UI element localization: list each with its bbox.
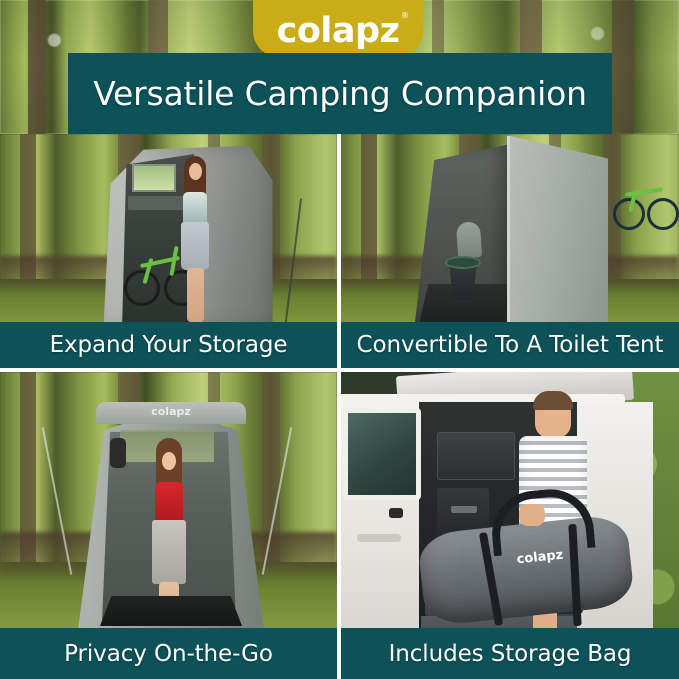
red-top-garment — [155, 482, 183, 522]
bike-wheel-rear — [124, 270, 160, 306]
feature-panel-expand-your-storage: Expand Your Storage — [0, 134, 337, 368]
bike-wheel-front — [647, 198, 679, 230]
caption-label: Privacy On-the-Go — [64, 641, 273, 667]
face — [162, 452, 176, 470]
toilet-lid — [456, 221, 482, 259]
face — [189, 163, 202, 180]
van-cabinet-handle — [451, 506, 477, 513]
page-title: Versatile Camping Companion — [93, 74, 587, 113]
tent-floor-mat — [100, 596, 242, 626]
caption-bar-convertible-to-a-toilet-tent: Convertible To A Toilet Tent — [341, 322, 679, 368]
caption-bar-includes-storage-bag: Includes Storage Bag — [341, 628, 679, 679]
van-cabinet-upper — [437, 432, 515, 480]
feature-grid: Expand Your Storage — [0, 134, 679, 679]
woman-with-towel — [146, 438, 192, 620]
title-banner: Versatile Camping Companion — [68, 53, 612, 134]
feature-panel-privacy-on-the-go: colapz Privacy On-the-Go — [0, 372, 337, 679]
tent-brand-logo: colapz — [140, 405, 202, 419]
caption-label: Expand Your Storage — [50, 332, 288, 358]
caption-bar-privacy-on-the-go: Privacy On-the-Go — [0, 628, 337, 679]
hand-gripping-handle — [519, 504, 545, 526]
registered-trademark-icon: ® — [401, 12, 409, 20]
skirt — [181, 222, 209, 270]
feature-panel-includes-storage-bag: colapz Includes Storage Bag — [341, 372, 679, 679]
toilet-tent-panel — [510, 136, 608, 324]
hanging-shower-bag — [110, 438, 126, 468]
feature-panel-convertible-to-a-toilet-tent: Convertible To A Toilet Tent — [341, 134, 679, 368]
hair — [533, 391, 573, 410]
van-door-handle — [357, 534, 401, 542]
caption-label: Convertible To A Toilet Tent — [357, 332, 664, 358]
header-banner: colapz® Versatile Camping Companion — [0, 0, 679, 134]
van-window — [132, 164, 176, 192]
van-door-window — [343, 408, 421, 500]
product-infographic: colapz® Versatile Camping Companion — [0, 0, 679, 679]
woman-at-tent-door — [176, 156, 218, 326]
caption-bar-expand-your-storage: Expand Your Storage — [0, 322, 337, 368]
towel — [152, 520, 186, 584]
wristwatch — [389, 508, 403, 518]
toilet-seat — [445, 256, 481, 269]
brand-logo-pill: colapz® — [253, 0, 423, 57]
caption-label: Includes Storage Bag — [389, 641, 632, 667]
bike-top-tube — [625, 187, 663, 196]
top-garment — [183, 192, 207, 226]
background-bicycles — [613, 184, 677, 226]
legs — [187, 268, 204, 322]
brand-wordmark: colapz® — [277, 14, 400, 49]
bike-wheel-rear — [613, 198, 645, 230]
